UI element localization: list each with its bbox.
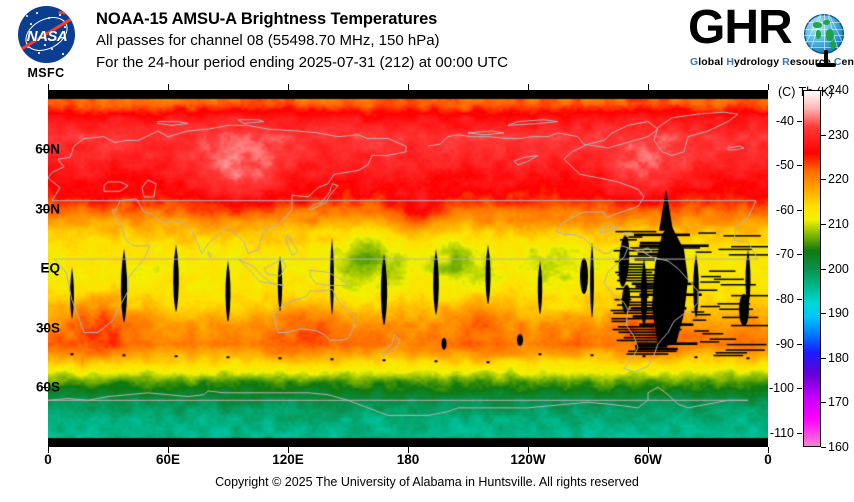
colorbar-tick-kelvin xyxy=(821,90,826,91)
ghrc-logo: GHR Global Hydrology Resource Center xyxy=(688,4,846,76)
colorbar-tick-kelvin xyxy=(821,402,826,403)
x-axis-label-60w: 60W xyxy=(634,452,662,467)
x-axis-label-120w: 120W xyxy=(510,452,545,467)
y-axis-label-60n: 60N xyxy=(35,142,60,157)
x-tick-top xyxy=(48,84,49,90)
colorbar-tick-kelvin xyxy=(821,358,826,359)
colorbar-label-celsius: -110 xyxy=(770,426,794,440)
colorbar-tick-kelvin xyxy=(821,135,826,136)
ghrc-wordmark: GHR xyxy=(688,2,792,54)
colorbar-tick-kelvin xyxy=(821,179,826,180)
colorbar-label-kelvin: 180 xyxy=(828,351,849,365)
x-tick-top xyxy=(168,84,169,90)
colorbar-tick-celsius xyxy=(797,388,802,389)
colorbar-label-kelvin: 170 xyxy=(828,395,849,409)
colorbar-tick-celsius xyxy=(797,433,802,434)
x-tick-top xyxy=(288,84,289,90)
nasa-meatball-icon: NASA xyxy=(18,6,75,63)
colorbar-label-celsius: -60 xyxy=(776,203,794,217)
subtitle-channel: All passes for channel 08 (55498.70 MHz,… xyxy=(96,30,696,52)
x-tick-top xyxy=(528,84,529,90)
page-title: NOAA-15 AMSU-A Brightness Temperatures xyxy=(96,8,696,30)
nasa-center-label: MSFC xyxy=(8,66,84,80)
colorbar-label-celsius: -90 xyxy=(776,337,794,351)
x-tick-top xyxy=(768,84,769,90)
y-axis-label-60s: 60S xyxy=(36,380,60,395)
title-block: NOAA-15 AMSU-A Brightness Temperatures A… xyxy=(96,8,696,74)
x-axis-label-360: 0 xyxy=(764,452,772,467)
ghrc-tagline: Global Hydrology Resource Center xyxy=(690,56,854,68)
x-axis-label-0: 0 xyxy=(44,452,52,467)
colorbar-tick-celsius xyxy=(797,210,802,211)
colorbar-gradient xyxy=(804,91,820,446)
colorbar-label-celsius: -40 xyxy=(776,114,794,128)
colorbar-tick-kelvin xyxy=(821,313,826,314)
x-tick-top xyxy=(648,84,649,90)
colorbar-tick-celsius xyxy=(797,254,802,255)
y-axis-label-30n: 30N xyxy=(35,202,60,217)
colorbar-label-kelvin: 160 xyxy=(828,440,849,454)
colorbar-label-kelvin: 240 xyxy=(828,83,849,97)
x-axis-label-120e: 120E xyxy=(272,452,304,467)
colorbar-label-kelvin: 190 xyxy=(828,306,849,320)
colorbar-tick-kelvin xyxy=(821,447,826,448)
colorbar[interactable] xyxy=(803,90,821,447)
x-axis-label-60e: 60E xyxy=(156,452,180,467)
colorbar-tick-kelvin xyxy=(821,269,826,270)
colorbar-label-kelvin: 220 xyxy=(828,172,849,186)
y-axis-label-30s: 30S xyxy=(36,321,60,336)
brightness-temperature-map[interactable] xyxy=(48,90,768,447)
colorbar-tick-kelvin xyxy=(821,224,826,225)
colorbar-tick-celsius xyxy=(797,165,802,166)
nasa-logo: NASA MSFC xyxy=(8,6,84,84)
y-axis-label-eq: EQ xyxy=(40,261,60,276)
colorbar-label-celsius: -70 xyxy=(776,247,794,261)
ghrc-globe-icon xyxy=(804,14,844,54)
subtitle-period: For the 24-hour period ending 2025-07-31… xyxy=(96,52,696,74)
colorbar-label-kelvin: 230 xyxy=(828,128,849,142)
colorbar-label-celsius: -50 xyxy=(776,158,794,172)
colorbar-tick-celsius xyxy=(797,344,802,345)
x-axis-label-180: 180 xyxy=(397,452,420,467)
copyright-notice: Copyright © 2025 The University of Alaba… xyxy=(0,475,854,489)
nasa-wordmark: NASA xyxy=(21,28,73,45)
map-heatmap-canvas xyxy=(48,90,768,447)
colorbar-label-kelvin: 210 xyxy=(828,217,849,231)
colorbar-label-kelvin: 200 xyxy=(828,262,849,276)
colorbar-label-celsius: -100 xyxy=(769,381,794,395)
colorbar-tick-celsius xyxy=(797,299,802,300)
colorbar-tick-celsius xyxy=(797,121,802,122)
colorbar-label-celsius: -80 xyxy=(776,292,794,306)
x-tick-top xyxy=(408,84,409,90)
